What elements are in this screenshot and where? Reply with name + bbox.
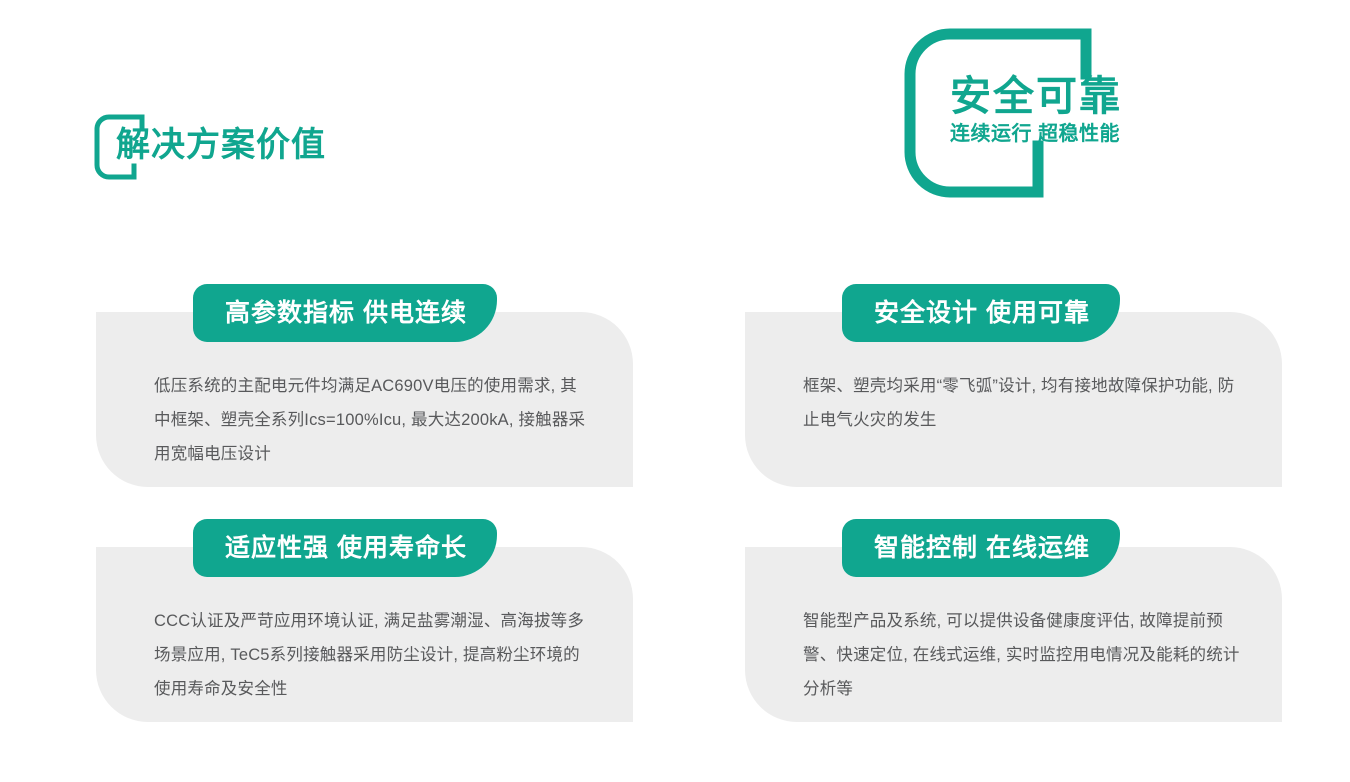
value-card: 安全设计 使用可靠 框架、塑壳均采用“零飞弧”设计, 均有接地故障保护功能, 防… (745, 312, 1282, 487)
card-title: 安全设计 使用可靠 (874, 301, 1090, 326)
value-card: 智能控制 在线运维 智能型产品及系统, 可以提供设备健康度评估, 故障提前预警、… (745, 547, 1282, 722)
section-heading: 解决方案价值 (92, 110, 512, 186)
card-header-pill: 高参数指标 供电连续 (193, 284, 497, 342)
card-header-pill: 安全设计 使用可靠 (842, 284, 1120, 342)
value-card: 适应性强 使用寿命长 CCC认证及严苛应用环境认证, 满足盐雾潮湿、高海拔等多场… (96, 547, 633, 722)
card-body-text: 低压系统的主配电元件均满足AC690V电压的使用需求, 其中框架、塑壳全系列Ic… (154, 370, 593, 471)
brand-mark-subtitle: 连续运行 超稳性能 (950, 122, 1130, 146)
card-body-text: 框架、塑壳均采用“零飞弧”设计, 均有接地故障保护功能, 防止电气火灾的发生 (803, 370, 1242, 438)
brand-mark: 安全可靠 连续运行 超稳性能 (898, 22, 1120, 204)
brand-mark-title: 安全可靠 (950, 74, 1130, 120)
card-body-text: CCC认证及严苛应用环境认证, 满足盐雾潮湿、高海拔等多场景应用, TeC5系列… (154, 605, 593, 706)
value-card: 高参数指标 供电连续 低压系统的主配电元件均满足AC690V电压的使用需求, 其… (96, 312, 633, 487)
cards-grid: 高参数指标 供电连续 低压系统的主配电元件均满足AC690V电压的使用需求, 其… (96, 312, 1282, 722)
card-title: 智能控制 在线运维 (874, 536, 1090, 561)
card-title: 高参数指标 供电连续 (225, 301, 467, 326)
card-header-pill: 智能控制 在线运维 (842, 519, 1120, 577)
card-row: 适应性强 使用寿命长 CCC认证及严苛应用环境认证, 满足盐雾潮湿、高海拔等多场… (96, 547, 1282, 722)
card-body-text: 智能型产品及系统, 可以提供设备健康度评估, 故障提前预警、快速定位, 在线式运… (803, 605, 1242, 706)
card-row: 高参数指标 供电连续 低压系统的主配电元件均满足AC690V电压的使用需求, 其… (96, 312, 1282, 487)
page-root: 安全可靠 连续运行 超稳性能 解决方案价值 高参数指标 供电连续 低压系统的主配… (0, 0, 1350, 782)
card-header-pill: 适应性强 使用寿命长 (193, 519, 497, 577)
card-title: 适应性强 使用寿命长 (225, 536, 467, 561)
page-title: 解决方案价值 (116, 124, 326, 167)
brand-mark-text: 安全可靠 连续运行 超稳性能 (950, 74, 1130, 146)
